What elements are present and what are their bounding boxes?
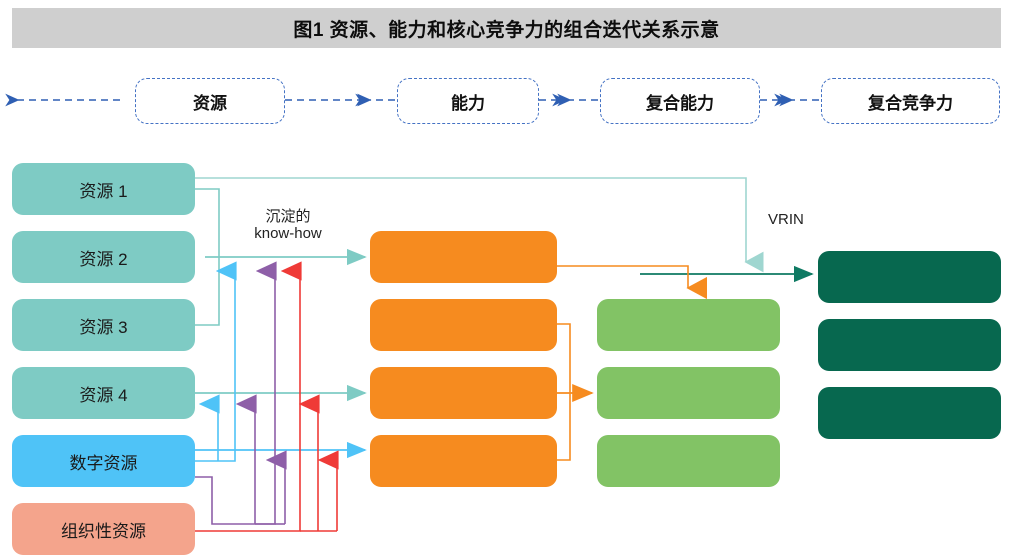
core-competitiveness-box-2[interactable] (818, 319, 1001, 371)
vrin-label: VRIN (768, 211, 828, 228)
resource-box-1[interactable]: 资源 1 (12, 163, 195, 215)
capability-box-3[interactable] (370, 367, 557, 419)
resource-label-2: 资源 2 (79, 245, 127, 270)
resource-box-digital[interactable]: 数字资源 (12, 435, 195, 487)
capability-box-2[interactable] (370, 299, 557, 351)
core-competitiveness-box-3[interactable] (818, 387, 1001, 439)
resource-box-2[interactable]: 资源 2 (12, 231, 195, 283)
composite-capability-box-2[interactable] (597, 367, 780, 419)
resource-label-4: 资源 4 (79, 381, 127, 406)
composite-capability-box-3[interactable] (597, 435, 780, 487)
capability-box-4[interactable] (370, 435, 557, 487)
resource-label-digital: 数字资源 (70, 449, 138, 474)
know-how-label: 沉淀的 know-how (228, 208, 348, 243)
resource-box-4[interactable]: 资源 4 (12, 367, 195, 419)
core-competitiveness-box-1[interactable] (818, 251, 1001, 303)
resource-label-3: 资源 3 (79, 313, 127, 338)
resource-label-organizational: 组织性资源 (61, 517, 146, 542)
composite-capability-box-1[interactable] (597, 299, 780, 351)
resource-box-organizational[interactable]: 组织性资源 (12, 503, 195, 555)
figure-canvas: 图1 资源、能力和核心竞争力的组合迭代关系示意 资源 能力 复合能力 复合竞 (0, 0, 1013, 559)
resource-box-3[interactable]: 资源 3 (12, 299, 195, 351)
capability-box-1[interactable] (370, 231, 557, 283)
resource-label-1: 资源 1 (79, 177, 127, 202)
